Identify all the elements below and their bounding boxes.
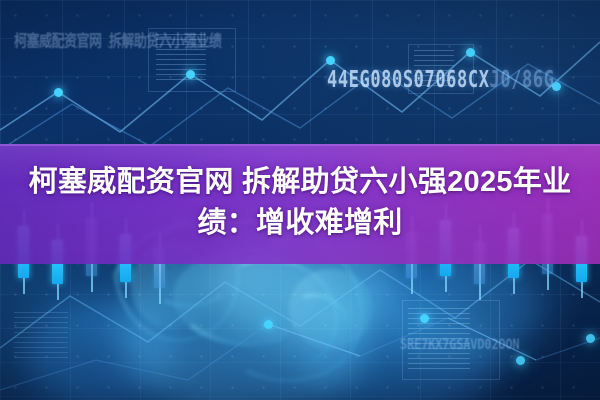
financial-news-banner: 柯塞威配资官网 拆解助贷六小强业绩 44EG080S07068CXJ0/86G … (0, 0, 600, 400)
purple-band-top-edge (0, 144, 600, 146)
page-title: 柯塞威配资官网 拆解助贷六小强2025年业绩：增收难增利 (0, 162, 600, 244)
